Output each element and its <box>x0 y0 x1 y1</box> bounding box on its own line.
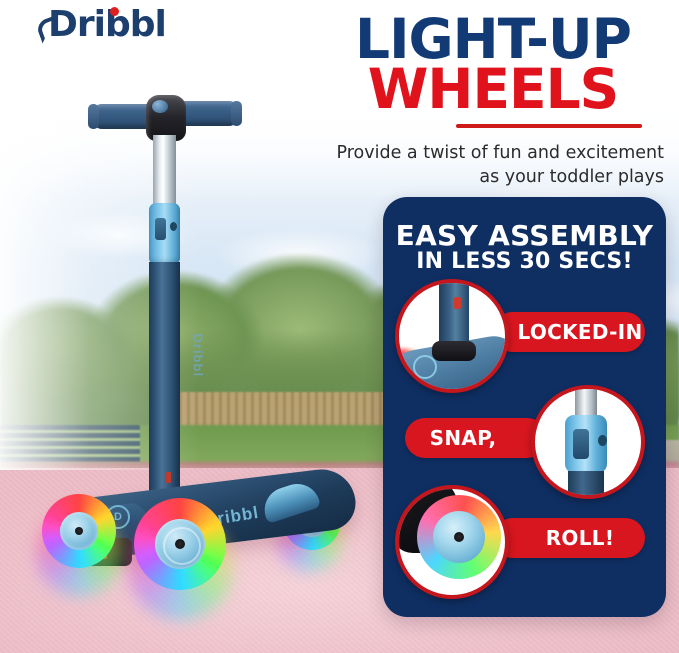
front-wheel-left-axle <box>75 527 83 535</box>
assembly-step-3: ROLL! <box>383 485 666 595</box>
step-3-badge: ROLL! <box>493 518 645 558</box>
stem-wordmark: Dribbl <box>125 334 205 363</box>
step-1-release-button <box>454 297 461 309</box>
step-2-badge: SNAP, <box>405 418 547 458</box>
assembly-step-1: LOCKED-IN <box>383 279 666 389</box>
subheadline-line2: as your toddler plays <box>268 166 664 190</box>
grip-end-right <box>231 101 242 126</box>
brand-logo-text: Dribbl <box>48 4 166 45</box>
step-3-label: ROLL! <box>515 526 645 550</box>
easy-assembly-panel: EASY ASSEMBLY IN LESS 30 SECS! LOCKED-IN… <box>383 197 666 617</box>
stem-release-button <box>166 472 171 483</box>
chrome-telescoping-stem <box>153 135 176 210</box>
panel-title-line2: IN LESS 30 SECS! <box>383 249 666 274</box>
brand-name: Dribbl <box>48 4 166 45</box>
brand-logo: Dribbl <box>48 4 166 44</box>
collar-button <box>170 222 177 231</box>
step-2-lever <box>573 429 589 459</box>
subheadline: Provide a twist of fun and excitement as… <box>268 142 664 189</box>
logo-dot-icon <box>110 7 119 16</box>
headline-line2: WHEELS <box>318 62 668 117</box>
step-2-chrome-stem <box>575 385 597 419</box>
step-2-label: SNAP, <box>405 426 521 450</box>
assembly-step-2: SNAP, <box>383 385 666 495</box>
product-marketing-image: Dribbl Dribbl D Dribbl LIGHT-UP WHEELS P… <box>0 0 679 653</box>
step-1-photo <box>395 279 509 393</box>
t-bar-cap <box>152 100 168 113</box>
collar-lever <box>155 218 166 240</box>
headline-underline <box>456 124 642 128</box>
step-2-photo <box>531 385 645 499</box>
step-1-badge: LOCKED-IN <box>493 312 645 352</box>
step-3-photo <box>395 485 509 599</box>
step-1-socket-collar <box>432 341 476 361</box>
step-2-button <box>598 435 607 446</box>
main-stem <box>149 262 180 492</box>
step-1-label: LOCKED-IN <box>515 320 645 344</box>
subheadline-line1: Provide a twist of fun and excitement <box>337 143 665 163</box>
panel-title-line1: EASY ASSEMBLY <box>383 219 666 252</box>
step-1-deck-logo <box>413 355 437 379</box>
grip-end-left <box>88 104 99 129</box>
front-wheel-right-axle <box>175 539 185 549</box>
step-3-wheel-axle <box>454 532 464 542</box>
